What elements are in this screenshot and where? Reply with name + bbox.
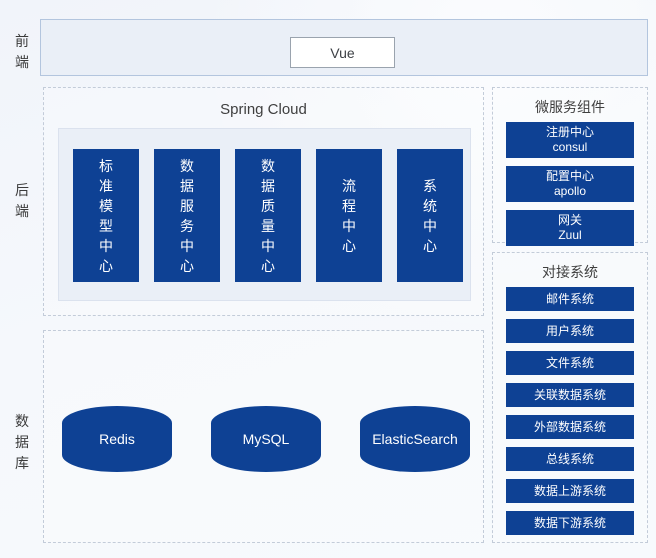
node-bus-system[interactable]: 总线系统 xyxy=(506,447,634,471)
node-registry-consul[interactable]: 注册中心 consul xyxy=(506,122,634,158)
microservice-components-list: 注册中心 consul 配置中心 apollo 网关 Zuul xyxy=(506,122,634,254)
node-vue[interactable]: Vue xyxy=(290,37,395,68)
node-upstream-data-system[interactable]: 数据上游系统 xyxy=(506,479,634,503)
row-label-backend: 后 端 xyxy=(8,180,36,222)
row-label-frontend: 前 端 xyxy=(8,31,36,73)
node-mysql[interactable]: MySQL xyxy=(211,406,321,472)
microservice-components-panel: 微服务组件 注册中心 consul 配置中心 apollo 网关 Zuul xyxy=(492,87,648,243)
node-data-service-center[interactable]: 数 据 服 务 中 心 xyxy=(154,149,220,282)
node-system-center[interactable]: 系 统 中 心 xyxy=(397,149,463,282)
node-external-data-system[interactable]: 外部数据系统 xyxy=(506,415,634,439)
row-label-database: 数 据 库 xyxy=(8,411,36,474)
node-mail-system[interactable]: 邮件系统 xyxy=(506,287,634,311)
node-process-center[interactable]: 流 程 中 心 xyxy=(316,149,382,282)
node-user-system[interactable]: 用户系统 xyxy=(506,319,634,343)
node-redis[interactable]: Redis xyxy=(62,406,172,472)
node-elasticsearch[interactable]: ElasticSearch xyxy=(360,406,470,472)
node-file-system[interactable]: 文件系统 xyxy=(506,351,634,375)
frontend-panel: Vue xyxy=(40,19,648,76)
database-panel: Redis MySQL ElasticSearch xyxy=(43,330,484,543)
spring-cloud-title: Spring Cloud xyxy=(44,101,483,118)
node-config-apollo[interactable]: 配置中心 apollo xyxy=(506,166,634,202)
docking-systems-list: 邮件系统 用户系统 文件系统 关联数据系统 外部数据系统 总线系统 数据上游系统… xyxy=(506,287,634,543)
node-downstream-data-system[interactable]: 数据下游系统 xyxy=(506,511,634,535)
architecture-diagram-canvas: 前 端 后 端 数 据 库 Vue Spring Cloud 标 准 模 型 中… xyxy=(0,0,656,558)
docking-systems-title: 对接系统 xyxy=(493,262,647,282)
node-linked-data-system[interactable]: 关联数据系统 xyxy=(506,383,634,407)
node-standard-model-center[interactable]: 标 准 模 型 中 心 xyxy=(73,149,139,282)
node-gateway-zuul[interactable]: 网关 Zuul xyxy=(506,210,634,246)
spring-cloud-panel: Spring Cloud 标 准 模 型 中 心 数 据 服 务 中 心 数 据… xyxy=(43,87,484,316)
microservice-components-title: 微服务组件 xyxy=(493,97,647,117)
service-center-group: 标 准 模 型 中 心 数 据 服 务 中 心 数 据 质 量 中 心 流 程 … xyxy=(58,128,471,301)
node-data-quality-center[interactable]: 数 据 质 量 中 心 xyxy=(235,149,301,282)
docking-systems-panel: 对接系统 邮件系统 用户系统 文件系统 关联数据系统 外部数据系统 总线系统 数… xyxy=(492,252,648,543)
